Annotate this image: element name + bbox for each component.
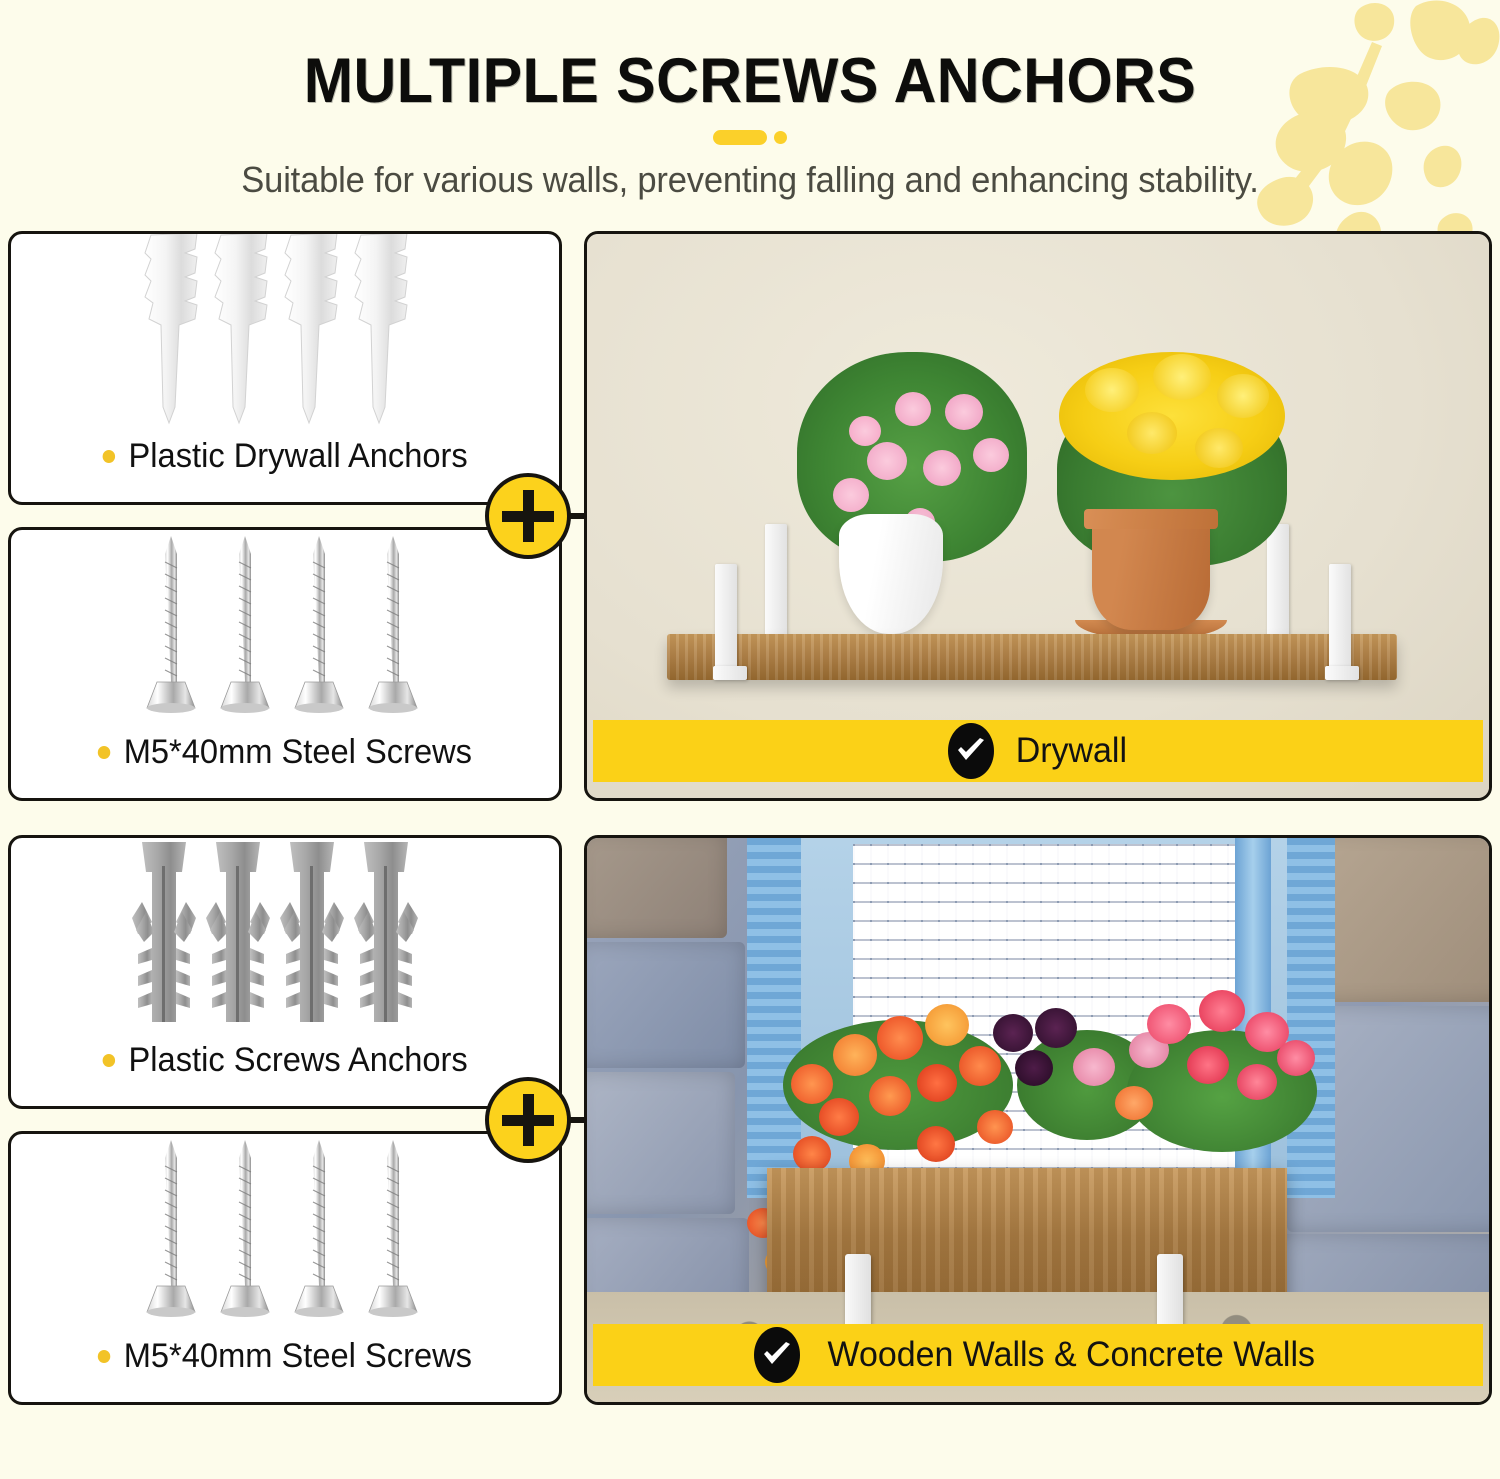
- part-label-text: M5*40mm Steel Screws: [124, 1337, 472, 1376]
- title-accent: [0, 130, 1500, 145]
- plastic-expansion-anchor-icon: [11, 836, 559, 1041]
- sections-container: Plastic Drywall Anchors: [0, 231, 1500, 1405]
- plus-badge: [485, 473, 571, 559]
- window-box-scene: [587, 838, 1489, 1402]
- steel-screw-icon: [11, 1134, 559, 1337]
- photo-panel-wooden-concrete[interactable]: Wooden Walls & Concrete Walls: [584, 835, 1492, 1405]
- page-title: MULTIPLE SCREWS ANCHORS: [45, 48, 1455, 114]
- check-mark-icon: [948, 723, 994, 779]
- part-card-plastic-drywall-anchors[interactable]: Plastic Drywall Anchors: [8, 231, 562, 505]
- bullet-dot: [98, 1350, 110, 1363]
- part-card-steel-screws[interactable]: M5*40mm Steel Screws: [8, 1131, 562, 1405]
- check-mark-icon: [754, 1327, 800, 1383]
- photo-panel-drywall[interactable]: Drywall: [584, 231, 1492, 801]
- part-label-text: M5*40mm Steel Screws: [124, 733, 472, 772]
- caption-drywall: Drywall: [593, 720, 1483, 782]
- section-wooden-concrete: Plastic Screws Anchors: [0, 835, 1500, 1405]
- part-label-text: Plastic Screws Anchors: [128, 1041, 467, 1080]
- bullet-dot: [102, 450, 114, 463]
- accent-pill: [713, 130, 767, 145]
- steel-screw-icon: [11, 530, 559, 733]
- part-label: Plastic Screws Anchors: [102, 1041, 467, 1080]
- caption-text: Drywall: [1015, 731, 1126, 771]
- caption-wooden-concrete: Wooden Walls & Concrete Walls: [593, 1324, 1483, 1386]
- plastic-drywall-anchor-icon: [11, 231, 559, 437]
- part-card-steel-screws[interactable]: M5*40mm Steel Screws: [8, 527, 562, 801]
- drywall-shelf-scene: [587, 234, 1489, 798]
- bullet-dot: [98, 746, 110, 759]
- parts-column: Plastic Drywall Anchors: [8, 231, 562, 801]
- part-card-plastic-screws-anchors[interactable]: Plastic Screws Anchors: [8, 835, 562, 1109]
- caption-text: Wooden Walls & Concrete Walls: [827, 1335, 1314, 1375]
- plus-badge: [485, 1077, 571, 1163]
- page-subtitle: Suitable for various walls, preventing f…: [30, 159, 1470, 201]
- part-label-text: Plastic Drywall Anchors: [128, 437, 467, 476]
- section-drywall: Plastic Drywall Anchors: [0, 231, 1500, 801]
- part-label: Plastic Drywall Anchors: [102, 437, 467, 476]
- parts-column: Plastic Screws Anchors: [8, 835, 562, 1405]
- accent-dot: [774, 131, 787, 144]
- bullet-dot: [102, 1054, 114, 1067]
- page-header: MULTIPLE SCREWS ANCHORS Suitable for var…: [0, 0, 1500, 201]
- part-label: M5*40mm Steel Screws: [98, 733, 472, 772]
- part-label: M5*40mm Steel Screws: [98, 1337, 472, 1376]
